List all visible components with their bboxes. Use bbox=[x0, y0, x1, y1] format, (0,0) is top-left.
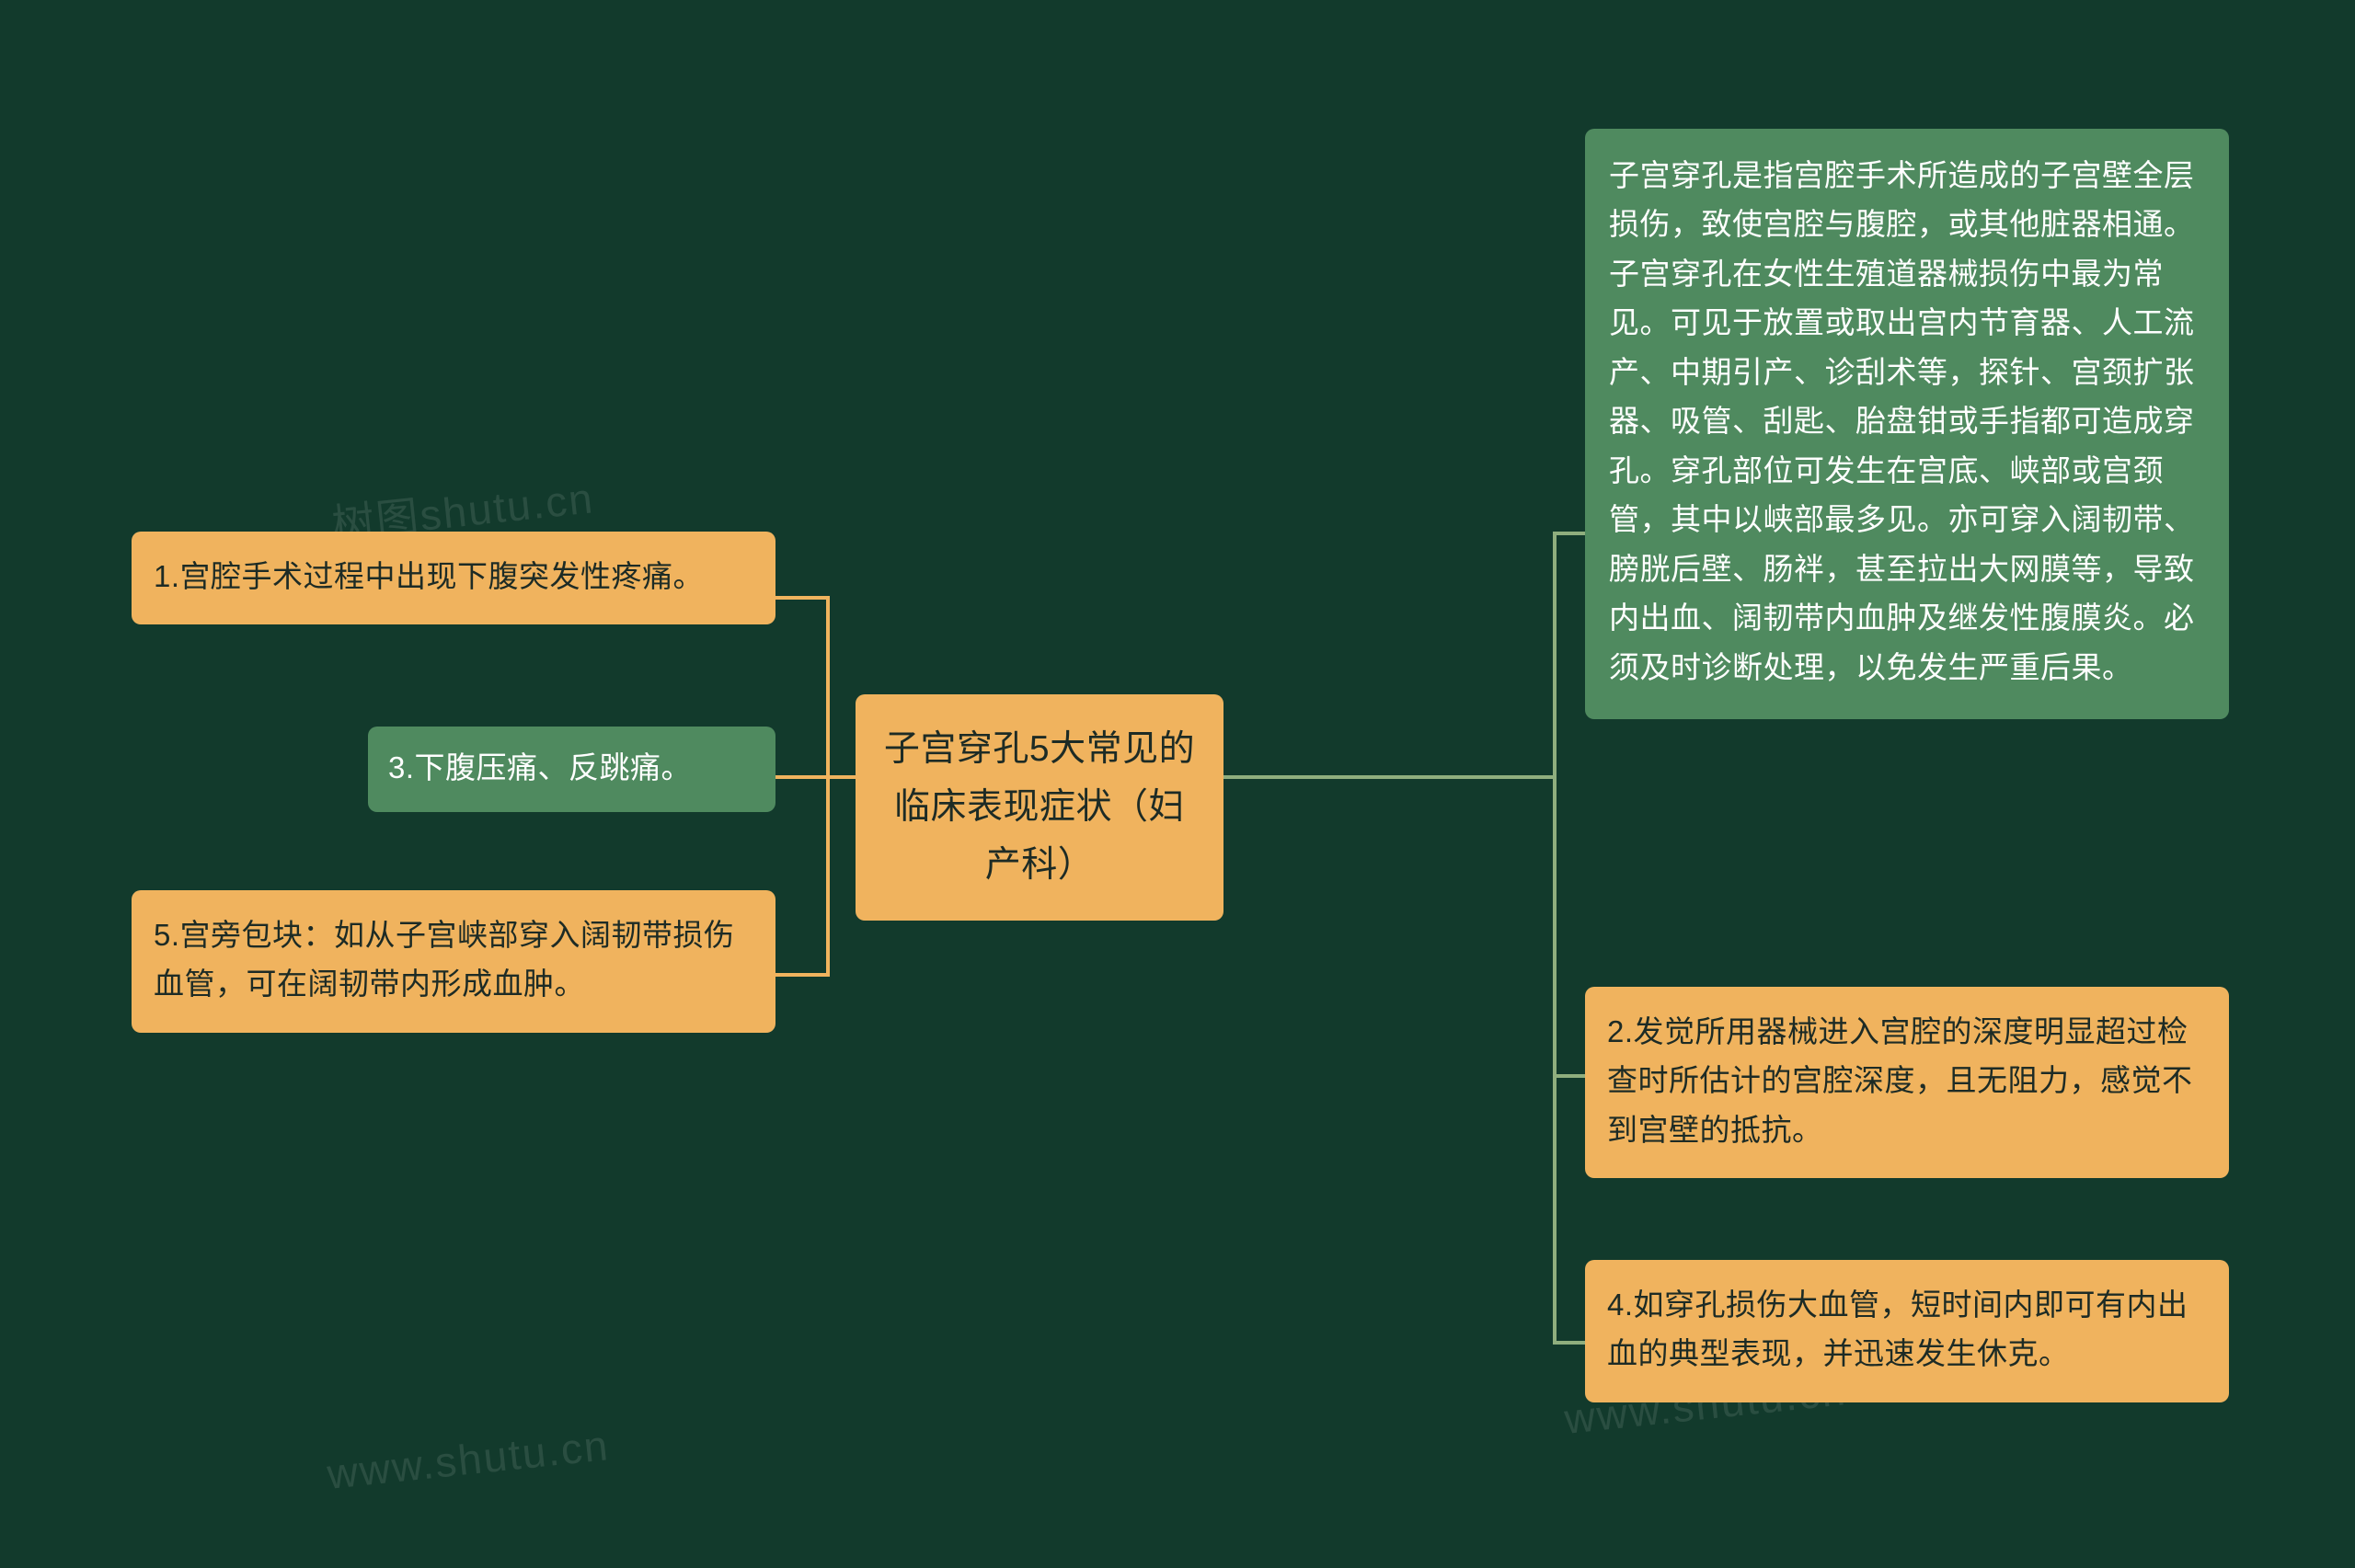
branch-node-2[interactable]: 2.发觉所用器械进入宫腔的深度明显超过检查时所估计的宫腔深度，且无阻力，感觉不到… bbox=[1585, 987, 2229, 1178]
branch-node-4[interactable]: 4.如穿孔损伤大血管，短时间内即可有内出血的典型表现，并迅速发生休克。 bbox=[1585, 1260, 2229, 1402]
branch-node-5[interactable]: 5.宫旁包块：如从子宫峡部穿入阔韧带损伤血管，可在阔韧带内形成血肿。 bbox=[132, 890, 775, 1033]
watermark: www.shutu.cn bbox=[325, 1420, 612, 1499]
branch-node-description[interactable]: 子宫穿孔是指宫腔手术所造成的子宫壁全层损伤，致使宫腔与腹腔，或其他脏器相通。子宫… bbox=[1585, 129, 2229, 719]
branch-node-1[interactable]: 1.宫腔手术过程中出现下腹突发性疼痛。 bbox=[132, 532, 775, 624]
branch-node-3[interactable]: 3.下腹压痛、反跳痛。 bbox=[368, 727, 775, 812]
diagram-canvas: 树图shutu.cn www.shutu.cn www.shutu.cn www… bbox=[0, 0, 2355, 1568]
center-node[interactable]: 子宫穿孔5大常见的临床表现症状（妇产科） bbox=[856, 694, 1223, 921]
